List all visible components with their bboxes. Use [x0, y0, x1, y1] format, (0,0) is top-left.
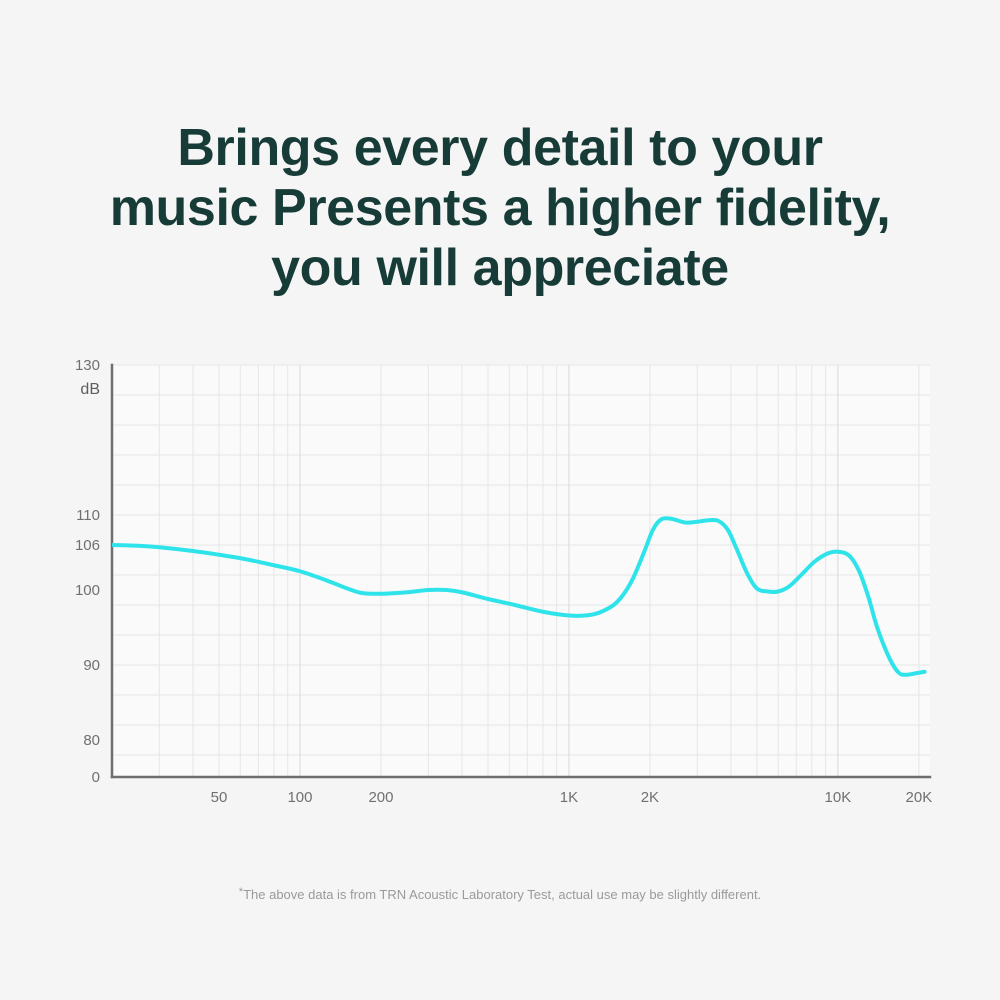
frequency-response-chart: 13011010610090800dB 501002001K2K10K20K [0, 0, 1000, 1000]
chart-footnote: *The above data is from TRN Acoustic Lab… [0, 884, 1000, 903]
y-tick-106: 106 [75, 537, 100, 554]
footnote-text: The above data is from TRN Acoustic Labo… [243, 887, 761, 902]
product-feature-page: Brings every detail to your music Presen… [0, 0, 1000, 1000]
x-tick-2K: 2K [641, 789, 659, 806]
y-axis-tick-labels: 13011010610090800dB [75, 357, 100, 786]
x-tick-1K: 1K [560, 789, 578, 806]
chart-canvas: 13011010610090800dB 501002001K2K10K20K [0, 0, 1000, 1000]
y-axis-unit-label: dB [80, 381, 100, 398]
x-axis-tick-labels: 501002001K2K10K20K [211, 789, 933, 806]
x-tick-20K: 20K [906, 789, 933, 806]
y-tick-90: 90 [83, 657, 100, 674]
y-tick-130: 130 [75, 357, 100, 374]
y-tick-80: 80 [83, 732, 100, 749]
x-tick-10K: 10K [825, 789, 852, 806]
x-tick-100: 100 [287, 789, 312, 806]
y-tick-110: 110 [76, 507, 100, 524]
x-tick-50: 50 [211, 789, 228, 806]
y-tick-100: 100 [75, 582, 100, 599]
x-tick-200: 200 [368, 789, 393, 806]
y-tick-0: 0 [92, 769, 100, 786]
